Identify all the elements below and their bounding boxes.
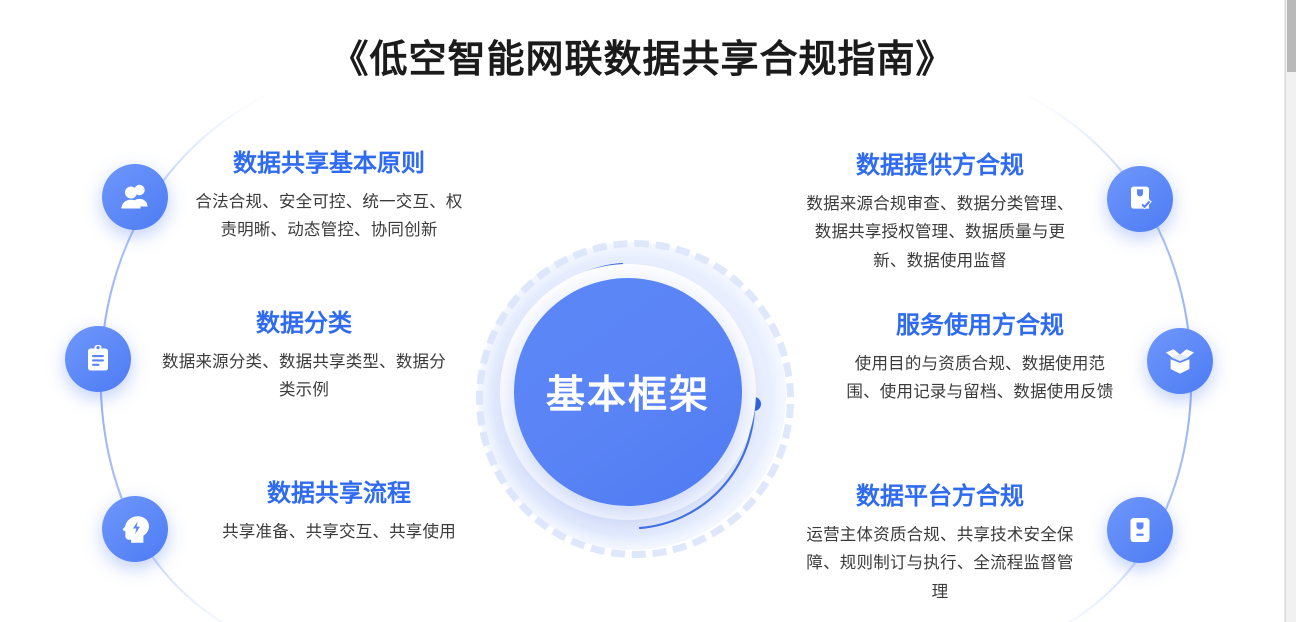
topic-card-data-provider-compliance[interactable]: 数据提供方合规 数据来源合规审查、数据分类管理、数据共享授权管理、数据质量与更新… bbox=[780, 152, 1200, 302]
open-box-icon bbox=[1147, 328, 1213, 394]
users-icon bbox=[102, 164, 168, 230]
scrollbar-thumb[interactable] bbox=[1287, 0, 1296, 72]
topic-card-data-classification[interactable]: 数据分类 数据来源分类、数据共享类型、数据分类示例 bbox=[58, 310, 508, 430]
topic-card-service-user-compliance[interactable]: 服务使用方合规 使用目的与资质合规、数据使用范围、使用记录与留档、数据使用反馈 bbox=[820, 312, 1240, 452]
topic-text: 数据共享基本原则 合法合规、安全可控、统一交互、权责明晰、动态管控、协同创新 bbox=[189, 150, 469, 245]
topic-card-data-sharing-process[interactable]: 数据共享流程 共享准备、共享交互、共享使用 bbox=[95, 480, 535, 590]
topic-title: 服务使用方合规 bbox=[840, 312, 1120, 341]
topic-body: 数据来源分类、数据共享类型、数据分类示例 bbox=[154, 348, 454, 405]
topic-body: 使用目的与资质合规、数据使用范围、使用记录与留档、数据使用反馈 bbox=[840, 350, 1120, 407]
page-title: 《低空智能网联数据共享合规指南》 bbox=[0, 28, 1285, 83]
center-circle: 基本框架 bbox=[514, 278, 742, 506]
center-label: 基本框架 bbox=[546, 364, 710, 420]
topic-title: 数据分类 bbox=[154, 310, 454, 339]
head-lightning-icon bbox=[102, 496, 168, 562]
topic-text: 数据分类 数据来源分类、数据共享类型、数据分类示例 bbox=[154, 310, 454, 405]
infographic-page: 《低空智能网联数据共享合规指南》 基本框架 bbox=[0, 0, 1296, 622]
topic-body: 合法合规、安全可控、统一交互、权责明晰、动态管控、协同创新 bbox=[189, 188, 469, 245]
topic-card-platform-compliance[interactable]: 数据平台方合规 运营主体资质合规、共享技术安全保障、规则制订与执行、全流程监督管… bbox=[780, 483, 1200, 622]
platform-card-icon bbox=[1107, 497, 1173, 563]
vertical-scrollbar[interactable] bbox=[1285, 0, 1296, 622]
topic-title: 数据提供方合规 bbox=[800, 152, 1080, 181]
topic-body: 共享准备、共享交互、共享使用 bbox=[189, 518, 489, 546]
topic-title: 数据共享基本原则 bbox=[189, 150, 469, 179]
topic-body: 数据来源合规审查、数据分类管理、数据共享授权管理、数据质量与更新、数据使用监督 bbox=[800, 190, 1080, 275]
topic-text: 数据平台方合规 运营主体资质合规、共享技术安全保障、规则制订与执行、全流程监督管… bbox=[800, 483, 1080, 606]
infographic-canvas: 《低空智能网联数据共享合规指南》 基本框架 bbox=[0, 0, 1285, 622]
topic-text: 服务使用方合规 使用目的与资质合规、数据使用范围、使用记录与留档、数据使用反馈 bbox=[840, 312, 1120, 407]
topic-text: 数据提供方合规 数据来源合规审查、数据分类管理、数据共享授权管理、数据质量与更新… bbox=[800, 152, 1080, 275]
topic-body: 运营主体资质合规、共享技术安全保障、规则制订与执行、全流程监督管理 bbox=[800, 521, 1080, 606]
topic-title: 数据平台方合规 bbox=[800, 483, 1080, 512]
topic-card-data-sharing-principles[interactable]: 数据共享基本原则 合法合规、安全可控、统一交互、权责明晰、动态管控、协同创新 bbox=[95, 150, 515, 300]
topic-title: 数据共享流程 bbox=[189, 480, 489, 509]
clipboard-icon bbox=[65, 326, 131, 392]
document-check-icon bbox=[1107, 166, 1173, 232]
topic-text: 数据共享流程 共享准备、共享交互、共享使用 bbox=[189, 480, 489, 546]
